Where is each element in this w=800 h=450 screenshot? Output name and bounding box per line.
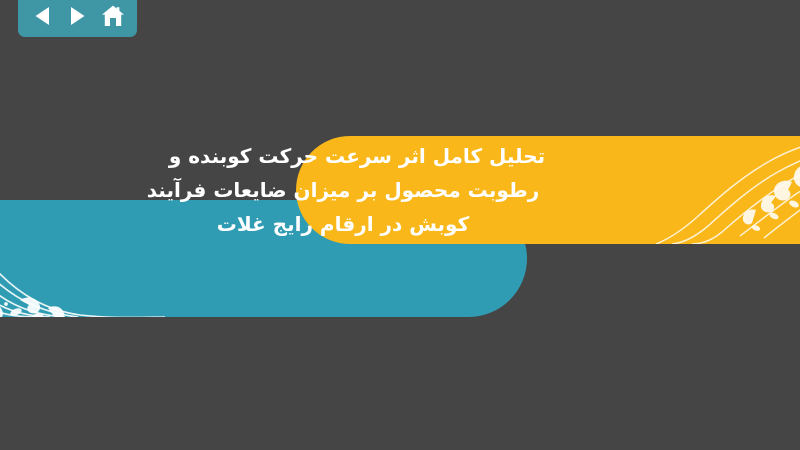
- triangle-right-icon: [68, 6, 87, 26]
- title-plate-shape: [296, 136, 800, 244]
- home-icon: [101, 5, 125, 27]
- next-slide-button[interactable]: [63, 2, 93, 30]
- previous-slide-button[interactable]: [27, 2, 57, 30]
- bottom-left-ornament: [0, 200, 165, 317]
- home-slide-button[interactable]: [98, 2, 128, 30]
- triangle-left-icon: [33, 6, 52, 26]
- slide-navigation-toolbar: [18, 0, 137, 37]
- top-right-ornament: [656, 136, 800, 244]
- slide-canvas: تحلیل کامل اثر سرعت حرکت کوبنده و رطوبت …: [0, 0, 800, 450]
